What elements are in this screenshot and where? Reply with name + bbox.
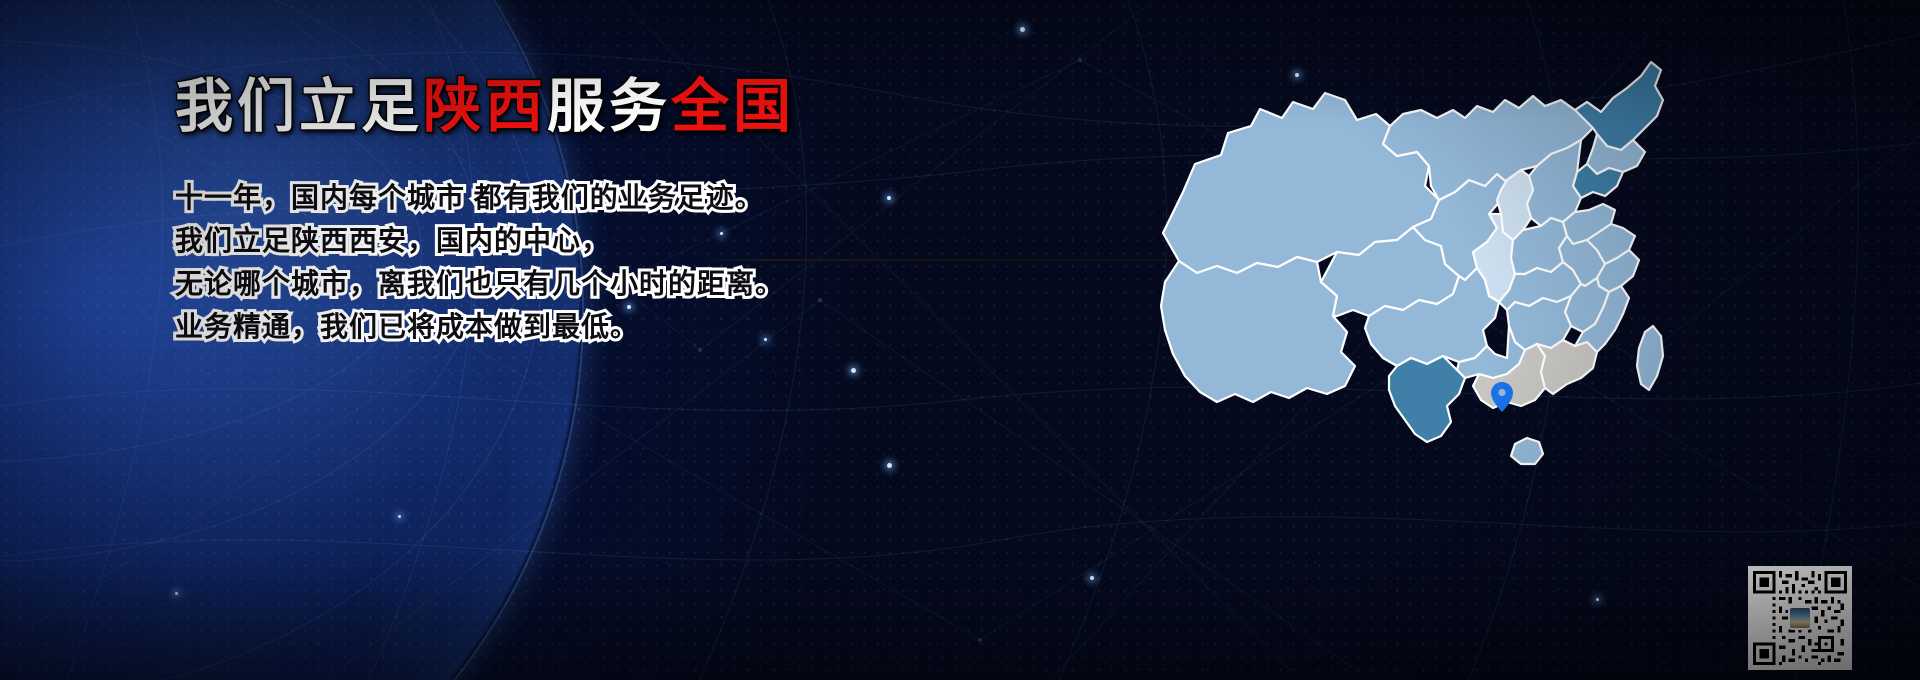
province-taiwan (1637, 326, 1663, 390)
province-hainan (1511, 438, 1543, 464)
star-glow (887, 463, 892, 468)
page-title: 我们立足陕西服务全国 (175, 78, 955, 136)
headline-segment-1: 我们立足 (175, 74, 423, 139)
star-glow (175, 592, 178, 595)
star-glow (1596, 598, 1599, 601)
body-line: 无论哪个城市，离我们也只有几个小时的距离。 (175, 262, 955, 305)
star-glow (1020, 27, 1025, 32)
headline-segment-4: 全国 (671, 74, 795, 139)
province-heilongjiang (1575, 62, 1663, 150)
headline-segment-3: 服务 (547, 74, 671, 139)
copy-block: 我们立足陕西服务全国 十一年，国内每个城市 都有我们的业务足迹。 我们立足陕西西… (175, 78, 955, 348)
body-line: 十一年，国内每个城市 都有我们的业务足迹。 (175, 176, 955, 219)
star-glow (398, 515, 401, 518)
qr-code[interactable] (1748, 566, 1852, 670)
body-copy: 十一年，国内每个城市 都有我们的业务足迹。 我们立足陕西西安，国内的中心， 无论… (175, 176, 955, 348)
province-yunnan (1389, 356, 1465, 442)
star-glow (1090, 576, 1094, 580)
qr-center-logo (1788, 606, 1812, 630)
star-glow (851, 368, 856, 373)
china-map (1045, 14, 1705, 574)
headline-segment-2: 陕西 (423, 74, 547, 139)
province-guangdong (1537, 340, 1597, 394)
promo-banner: 我们立足陕西服务全国 十一年，国内每个城市 都有我们的业务足迹。 我们立足陕西西… (0, 0, 1920, 680)
body-line: 业务精通，我们已将成本做到最低。 (175, 305, 955, 348)
body-line: 我们立足陕西西安，国内的中心， (175, 219, 955, 262)
location-pin-icon[interactable] (1491, 382, 1513, 412)
